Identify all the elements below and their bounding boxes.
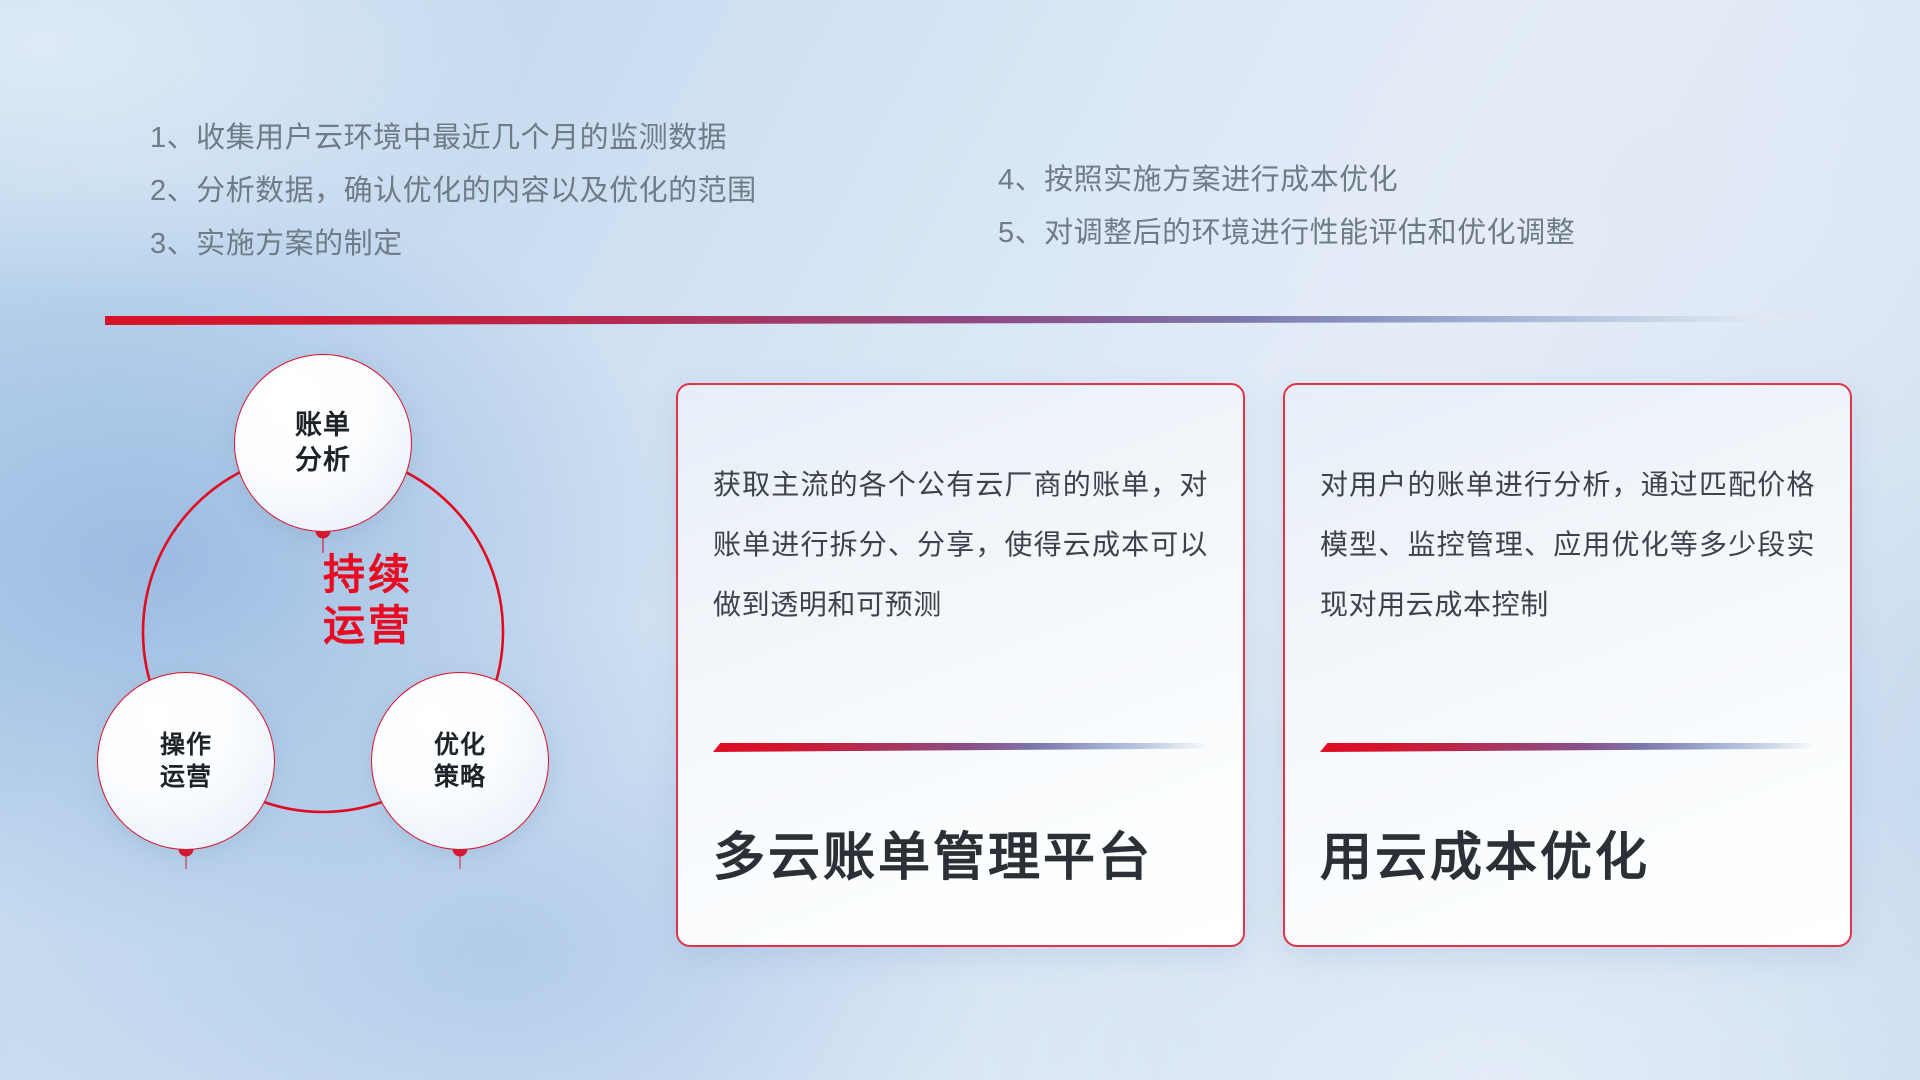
- card-divider: [1320, 743, 1815, 752]
- slide-canvas: 1、收集用户云环境中最近几个月的监测数据 2、分析数据，确认优化的内容以及优化的…: [0, 0, 1920, 1080]
- steps-list-left: 1、收集用户云环境中最近几个月的监测数据 2、分析数据，确认优化的内容以及优化的…: [150, 112, 757, 271]
- venn-bubble-label-line1: 账单: [295, 408, 351, 443]
- venn-bubble-operations[interactable]: 操作 运营: [98, 673, 274, 849]
- step-text: 2、分析数据，确认优化的内容以及优化的范围: [150, 177, 757, 206]
- venn-diagram: 账单 分析 操作 运营 优化 策略 持续 运营: [90, 355, 610, 925]
- section-divider: [105, 316, 1835, 325]
- step-item: 5、对调整后的环境进行性能评估和优化调整: [998, 207, 1575, 260]
- step-text: 1、收集用户云环境中最近几个月的监测数据: [150, 124, 727, 153]
- venn-center-line1: 持续: [258, 549, 478, 600]
- feature-card-multicloud-billing[interactable]: 获取主流的各个公有云厂商的账单，对账单进行拆分、分享，使得云成本可以做到透明和可…: [676, 383, 1245, 947]
- venn-bubble-label-line2: 分析: [295, 443, 351, 478]
- card-title: 用云成本优化: [1320, 815, 1650, 890]
- step-item: 2、分析数据，确认优化的内容以及优化的范围: [150, 165, 757, 218]
- feature-card-cost-optimization[interactable]: 对用户的账单进行分析，通过匹配价格模型、监控管理、应用优化等多少段实现对用云成本…: [1283, 383, 1852, 947]
- card-divider: [713, 743, 1208, 752]
- venn-bubble-label-line1: 操作: [160, 729, 212, 761]
- venn-center-label: 持续 运营: [258, 549, 478, 651]
- venn-bubble-optimization-strategy[interactable]: 优化 策略: [372, 673, 548, 849]
- step-text: 5、对调整后的环境进行性能评估和优化调整: [998, 219, 1575, 248]
- steps-list-right: 4、按照实施方案进行成本优化 5、对调整后的环境进行性能评估和优化调整: [998, 154, 1575, 260]
- step-item: 4、按照实施方案进行成本优化: [998, 154, 1575, 207]
- venn-bubble-label-line1: 优化: [434, 729, 486, 761]
- card-body-text: 获取主流的各个公有云厂商的账单，对账单进行拆分、分享，使得云成本可以做到透明和可…: [713, 455, 1208, 636]
- step-text: 3、实施方案的制定: [150, 230, 403, 259]
- step-text: 4、按照实施方案进行成本优化: [998, 166, 1398, 195]
- step-item: 3、实施方案的制定: [150, 218, 757, 271]
- venn-bubble-label-line2: 运营: [160, 761, 212, 793]
- venn-bubble-billing-analysis[interactable]: 账单 分析: [235, 355, 411, 531]
- step-item: 1、收集用户云环境中最近几个月的监测数据: [150, 112, 757, 165]
- venn-bubble-label-line2: 策略: [434, 761, 486, 793]
- venn-center-line2: 运营: [258, 600, 478, 651]
- card-title: 多云账单管理平台: [713, 815, 1153, 890]
- card-body-text: 对用户的账单进行分析，通过匹配价格模型、监控管理、应用优化等多少段实现对用云成本…: [1320, 455, 1815, 636]
